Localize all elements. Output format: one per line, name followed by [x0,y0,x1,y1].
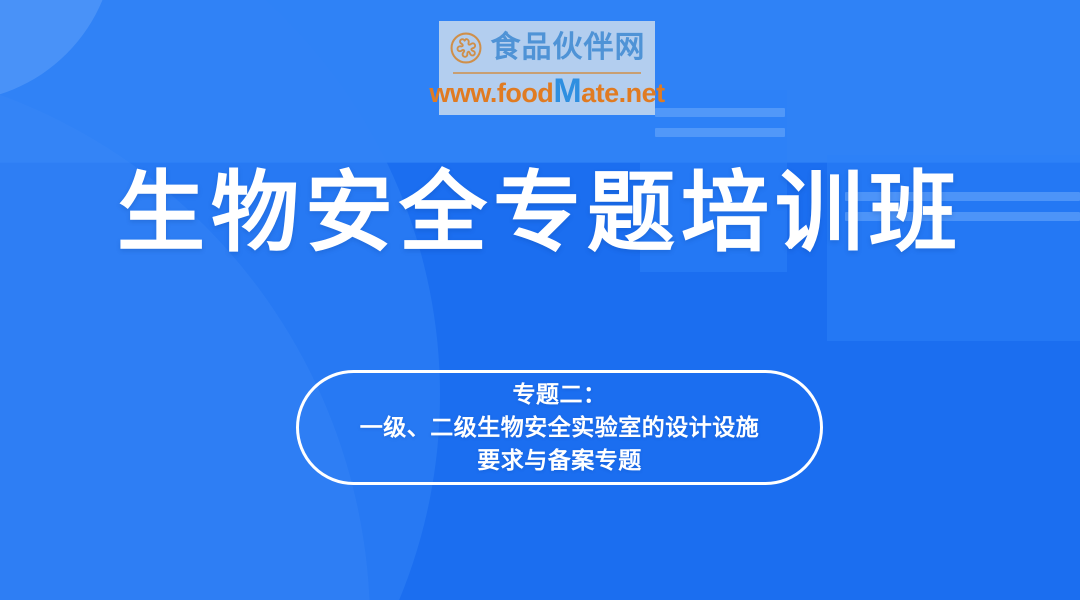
logo-chinese-name: 食品伙伴网 [491,33,646,63]
logo-url-accent: M [553,72,581,110]
logo-url-prefix: www.food [429,78,553,108]
page-title: 生物安全专题培训班 [0,165,1080,260]
logo-url[interactable]: www.foodMate.net [429,74,664,110]
foodmate-flower-icon [449,31,483,65]
subtitle-line-1: 专题二： [513,379,607,410]
logo-divider [453,72,641,74]
background-card-line [655,128,785,137]
subtitle-line-3: 要求与备案专题 [477,445,642,476]
logo-url-suffix: ate.net [581,78,665,108]
logo-top-row: 食品伙伴网 [449,25,646,71]
foodmate-logo-badge[interactable]: 食品伙伴网 www.foodMate.net [439,21,655,115]
subtitle-line-2: 一级、二级生物安全实验室的设计设施 [360,412,760,443]
subtitle-pill: 专题二： 一级、二级生物安全实验室的设计设施 要求与备案专题 [296,370,823,485]
background-card-line [655,108,785,117]
poster-banner: 食品伙伴网 www.foodMate.net 生物安全专题培训班 专题二： 一级… [0,0,1080,600]
